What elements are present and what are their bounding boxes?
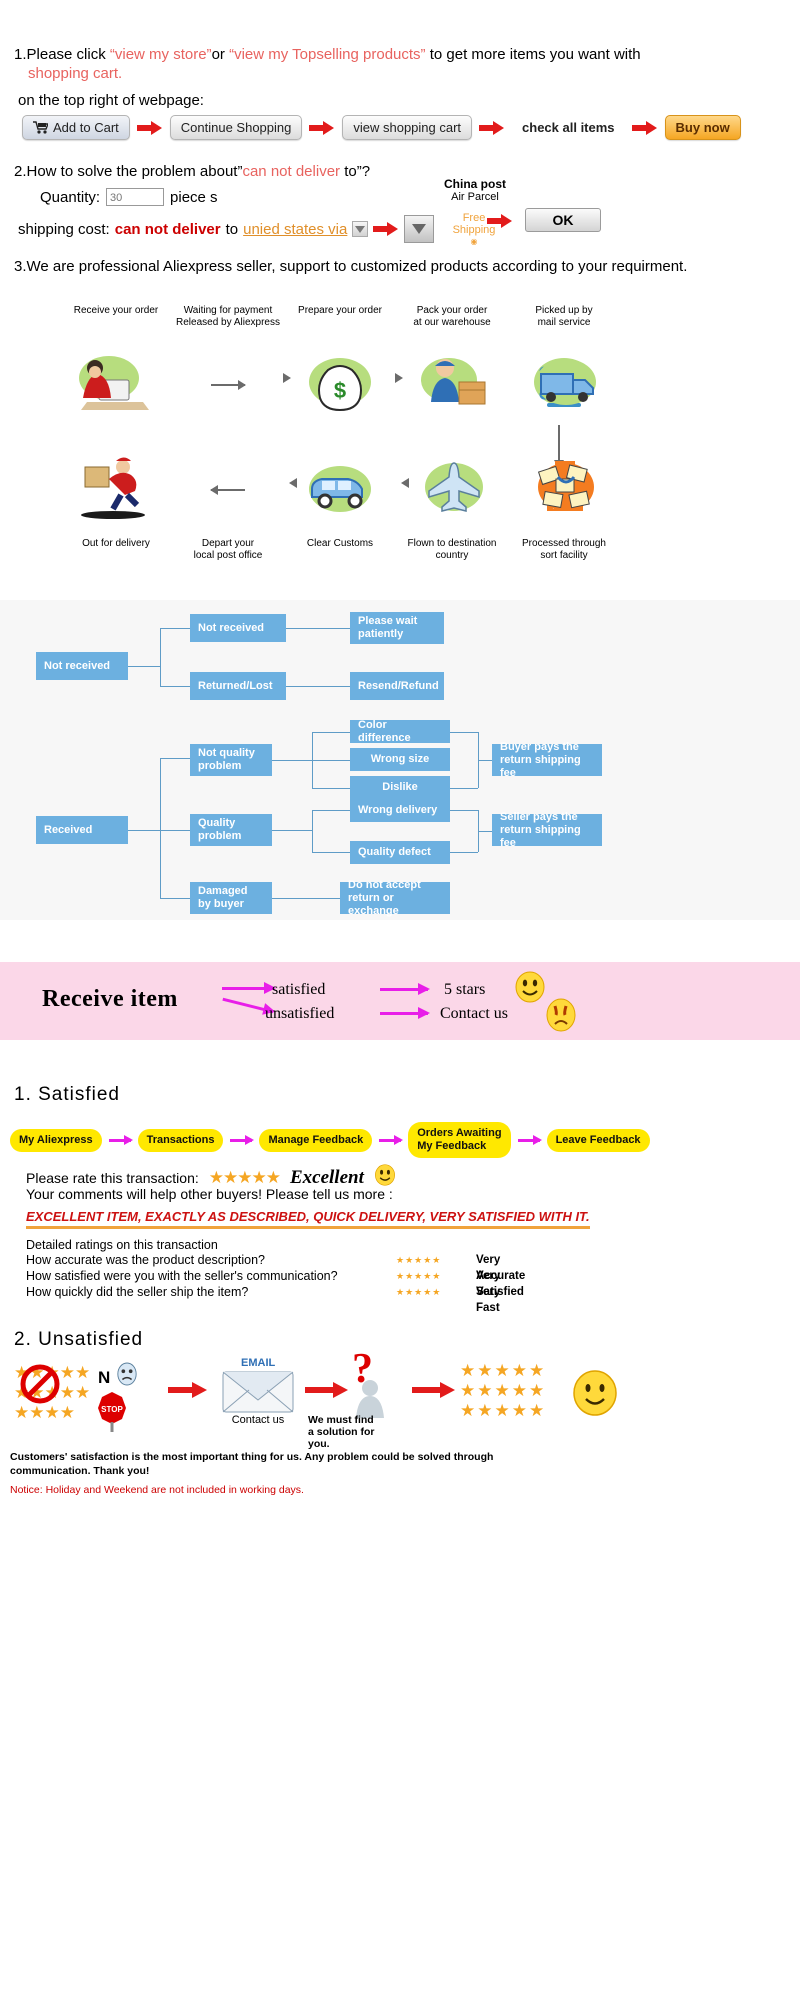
svg-text:$: $: [334, 378, 346, 403]
svg-text:STOP: STOP: [101, 1405, 123, 1414]
flow-label: Receive your order: [60, 305, 172, 329]
arrow-right-icon: [211, 384, 245, 386]
node-label: Please wait patiently: [358, 615, 417, 641]
connector: [272, 898, 340, 899]
feedback-steps-row: My Aliexpress Transactions Manage Feedba…: [10, 1122, 650, 1158]
detailed-rating-row: How accurate was the product description…: [26, 1252, 338, 1268]
flow-label: Depart your local post office: [172, 538, 284, 562]
continue-shopping-button[interactable]: Continue Shopping: [170, 115, 303, 140]
flow-icon-cell: $: [284, 345, 396, 425]
flow-label: Picked up by mail service: [508, 305, 620, 329]
arrow-right-icon: [168, 1382, 208, 1403]
connector: [478, 760, 492, 761]
flow-icon-cell: [60, 450, 172, 530]
flow-icon-cell: [172, 450, 284, 530]
step-manage-feedback[interactable]: Manage Feedback: [259, 1129, 372, 1152]
flow-node-damaged-by-buyer: Damaged by buyer: [190, 882, 272, 914]
connector: [312, 760, 350, 761]
arrow-right-icon: [380, 1012, 428, 1015]
flow-node-dislike: Dislike: [350, 776, 450, 799]
flow-label: Clear Customs: [284, 538, 396, 562]
connector: [478, 831, 492, 832]
rating-stars: ★★★★★: [396, 1252, 441, 1268]
connector: [312, 810, 313, 852]
node-label: Received: [44, 824, 92, 837]
buy-now-button[interactable]: Buy now: [665, 115, 741, 140]
arrow-right-icon: [309, 121, 335, 135]
happy-face-icon: [514, 971, 546, 1008]
footer-note-line1: Customers' satisfaction is the most impo…: [10, 1450, 493, 1464]
sad-face-icon: [545, 998, 577, 1037]
rate-label: Please rate this transaction:: [26, 1170, 199, 1186]
node-label: Buyer pays the return shipping fee: [500, 741, 594, 780]
node-label: Wrong size: [371, 753, 429, 766]
connector: [272, 760, 312, 761]
flow-node-returned-lost: Returned/Lost: [190, 672, 286, 700]
no-rating-graphic: ★★★★★ ★★★★★ ★★★★: [14, 1362, 104, 1445]
flow-icon-cell: [398, 345, 510, 425]
flow-node-resend-refund: Resend/Refund: [350, 672, 444, 700]
step-label: Leave Feedback: [556, 1134, 641, 1147]
flow-icon-cell: [284, 450, 396, 530]
flow-label: Processed through sort facility: [508, 538, 620, 562]
view-shopping-cart-button[interactable]: view shopping cart: [342, 115, 472, 140]
connector: [450, 788, 478, 789]
flow-node-please-wait: Please wait patiently: [350, 612, 444, 644]
comment-text-wrapper: EXCELLENT ITEM, EXACTLY AS DESCRIBED, QU…: [26, 1208, 590, 1229]
unsatisfied-label: unsatisfied: [265, 1005, 334, 1023]
section3-title: 3.We are professional Aliexpress seller,…: [14, 258, 687, 275]
detailed-rating-row: How quickly did the seller ship the item…: [26, 1284, 338, 1300]
connector: [160, 686, 190, 687]
returns-policy-flowchart: Not received Not received Returned/Lost …: [0, 600, 800, 920]
shipping-to-text: to: [226, 221, 239, 238]
comment-prompt: Your comments will help other buyers! Pl…: [26, 1186, 393, 1202]
view-my-store-link[interactable]: “view my store”: [110, 46, 212, 63]
flow-icon-cell: [172, 345, 284, 425]
arrow-right-icon: [487, 214, 513, 228]
airplane-icon: [416, 457, 492, 524]
flow-icon-cell: [398, 450, 510, 530]
connector: [160, 898, 190, 899]
arrow-right-icon: [518, 1139, 540, 1142]
van-icon: [300, 457, 380, 524]
flow-icon-cell: [510, 450, 622, 530]
rating-question: How accurate was the product description…: [26, 1253, 265, 1267]
comment-text: EXCELLENT ITEM, EXACTLY AS DESCRIBED, QU…: [26, 1209, 590, 1229]
contact-us-caption: Contact us: [218, 1414, 298, 1426]
node-label: Quality problem: [198, 817, 241, 843]
cannot-deliver-highlight: can not deliver: [242, 163, 340, 180]
flow-label: Out for delivery: [60, 538, 172, 562]
flow-label: Flown to destination country: [396, 538, 508, 562]
connector: [450, 810, 478, 811]
check-all-items-label: check all items: [522, 120, 615, 135]
cart-button-row: Add to Cart Continue Shopping view shopp…: [22, 115, 741, 140]
step-label: My Aliexpress: [19, 1134, 93, 1147]
check-all-items-text: check all items: [512, 116, 625, 139]
view-shopping-cart-label: view shopping cart: [353, 120, 461, 135]
shipping-cost-row: shipping cost:can not deliver to unied s…: [18, 215, 434, 243]
person-at-computer-icon: [73, 352, 159, 419]
section2-title-a: 2.How to solve the problem about”: [14, 163, 242, 180]
rating-verdict: Very Fast: [476, 1284, 500, 1316]
connector: [450, 852, 478, 853]
shopping-cart-icon: [33, 121, 48, 134]
flow-node-received-root: Received: [36, 816, 128, 844]
detailed-rating-row: How satisfied were you with the seller's…: [26, 1268, 338, 1284]
five-stars-label: 5 stars: [444, 981, 485, 999]
cannot-deliver-text: can not deliver: [115, 221, 221, 238]
connector: [160, 830, 190, 831]
arrow-right-icon: [137, 121, 163, 135]
node-label: Quality defect: [358, 846, 431, 859]
connector: [160, 758, 190, 759]
connector: [286, 686, 350, 687]
arrow-right-icon: [479, 121, 505, 135]
step-label: Transactions: [147, 1134, 215, 1147]
svg-text:★★★★★: ★★★★★: [460, 1361, 546, 1380]
step-transactions[interactable]: Transactions: [138, 1129, 224, 1152]
flow-node-not-received: Not received: [190, 614, 286, 642]
warehouse-worker-icon: [415, 352, 493, 419]
connector: [272, 830, 312, 831]
node-label: Color difference: [358, 719, 442, 745]
node-label: Returned/Lost: [198, 680, 273, 693]
detailed-ratings-list: How accurate was the product description…: [26, 1252, 338, 1300]
connector: [312, 852, 350, 853]
receive-item-title: Receive item: [42, 986, 178, 1013]
satisfied-heading: 1. Satisfied: [14, 1084, 120, 1106]
quantity-input[interactable]: 30: [106, 188, 164, 206]
step-orders-awaiting[interactable]: Orders Awaiting My Feedback: [408, 1122, 510, 1158]
flow-icon-cell: [510, 345, 622, 425]
rating-stars: ★★★★★: [396, 1284, 441, 1300]
carrier-info: China post Air Parcel: [420, 177, 530, 203]
step-leave-feedback[interactable]: Leave Feedback: [547, 1129, 650, 1152]
node-label: Wrong delivery: [358, 804, 437, 817]
footer-notice: Notice: Holiday and Weekend are not incl…: [10, 1484, 304, 1496]
arrow-right-icon: [109, 1139, 131, 1142]
shipping-cost-label: shipping cost:: [18, 221, 110, 238]
info-icon: ◉: [424, 236, 524, 248]
view-topselling-link[interactable]: “view my Topselling products”: [229, 46, 425, 63]
chevron-down-icon: [355, 226, 365, 233]
add-to-cart-label: Add to Cart: [53, 120, 119, 135]
shipping-flow-labels-bottom: Out for delivery Depart your local post …: [60, 538, 620, 562]
shopping-cart-text: shopping cart.: [28, 65, 122, 82]
svg-text:★★★★: ★★★★: [14, 1403, 75, 1422]
node-label: Not quality problem: [198, 747, 255, 773]
arrow-right-icon: [373, 222, 399, 236]
unsatisfied-heading: 2. Unsatisfied: [14, 1329, 143, 1351]
flow-node-wrong-delivery: Wrong delivery: [350, 799, 450, 822]
flow-node-do-not-accept: Do not accept return or exchange: [340, 882, 450, 914]
mail-sorting-icon: [528, 457, 604, 524]
rating-stars[interactable]: ★★★★★: [209, 1168, 280, 1188]
svg-text:★★★★★: ★★★★★: [460, 1401, 546, 1420]
connector: [312, 810, 350, 811]
shipping-flow-labels-top: Receive your order Waiting for payment R…: [60, 305, 620, 329]
node-label: Not received: [44, 660, 110, 673]
connector: [312, 732, 350, 733]
arrow-right-icon: [632, 121, 658, 135]
instruction-mid: or: [212, 46, 230, 63]
running-courier-icon: [73, 455, 159, 526]
flow-label: Prepare your order: [284, 305, 396, 329]
thinking-person-icon: ?: [330, 1352, 406, 1423]
flow-node-not-received-root: Not received: [36, 652, 128, 680]
ok-label: OK: [553, 212, 574, 228]
star-grid: ★★★★★ ★★★★★ ★★★★★: [460, 1360, 570, 1427]
no-label: N: [98, 1368, 110, 1388]
svg-text:★★★★★: ★★★★★: [460, 1381, 546, 1400]
connector: [128, 666, 160, 667]
step-my-aliexpress[interactable]: My Aliexpress: [10, 1129, 102, 1152]
flow-label: Waiting for payment Released by Aliexpre…: [172, 305, 284, 329]
quantity-unit: piece s: [170, 189, 218, 206]
arrow-right-icon: [412, 1382, 456, 1403]
arrow-right-icon: [230, 1139, 252, 1142]
flow-node-quality-defect: Quality defect: [350, 841, 450, 864]
node-label: Not received: [198, 622, 264, 635]
stop-sign-icon: STOP: [92, 1390, 132, 1437]
section2-title-b: to”?: [340, 163, 370, 180]
instruction-line-1: 1.Please click “view my store”or “view m…: [14, 44, 794, 65]
instruction-suffix: to get more items you want with: [426, 46, 641, 63]
node-label: Do not accept return or exchange: [348, 879, 442, 918]
add-to-cart-button[interactable]: Add to Cart: [22, 115, 130, 140]
receive-item-banner: Receive item satisfied unsatisfied 5 sta…: [0, 962, 800, 1040]
connector: [450, 732, 478, 733]
contact-us-label: Contact us: [440, 1005, 508, 1023]
connector: [128, 830, 160, 831]
connector: [160, 628, 161, 686]
continue-shopping-label: Continue Shopping: [181, 120, 292, 135]
quantity-label: Quantity:: [40, 189, 100, 206]
solution-caption: We must find a solution for you.: [308, 1414, 418, 1450]
flow-node-color-difference: Color difference: [350, 720, 450, 743]
arrow-right-icon: [379, 1139, 401, 1142]
connector: [160, 628, 190, 629]
step-label: Orders Awaiting My Feedback: [417, 1127, 501, 1153]
carrier-service: Air Parcel: [420, 191, 530, 203]
flow-icon-cell: [60, 345, 172, 425]
flow-label: Pack your order at our warehouse: [396, 305, 508, 329]
flow-node-seller-pays: Seller pays the return shipping fee: [492, 814, 602, 846]
rating-question: How satisfied were you with the seller's…: [26, 1269, 338, 1283]
node-label: Seller pays the return shipping fee: [500, 811, 594, 850]
flow-node-wrong-size: Wrong size: [350, 748, 450, 771]
section2-title: 2.How to solve the problem about”can not…: [14, 163, 370, 180]
arrow-right-icon: [222, 987, 274, 990]
connector: [160, 758, 161, 898]
country-select-link[interactable]: unied states via: [243, 221, 347, 238]
detailed-ratings-heading: Detailed ratings on this transaction: [26, 1238, 218, 1252]
node-label: Damaged by buyer: [198, 885, 248, 911]
delivery-truck-icon: [527, 352, 605, 419]
svg-text:EMAIL: EMAIL: [241, 1357, 276, 1369]
rating-question: How quickly did the seller ship the item…: [26, 1285, 248, 1299]
flow-node-not-quality-problem: Not quality problem: [190, 744, 272, 776]
money-bag-icon: $: [300, 352, 380, 419]
satisfied-label: satisfied: [272, 981, 325, 999]
arrow-left-icon: [211, 489, 245, 491]
node-label: Dislike: [382, 781, 417, 794]
worried-face-icon: [116, 1362, 138, 1391]
node-label: Resend/Refund: [358, 680, 439, 693]
neutral-face-icon: [572, 1370, 618, 1421]
connector: [312, 788, 350, 789]
flow-node-buyer-pays: Buyer pays the return shipping fee: [492, 744, 602, 776]
buy-now-label: Buy now: [676, 120, 730, 135]
step-label: Manage Feedback: [268, 1134, 363, 1147]
flow-node-quality-problem: Quality problem: [190, 814, 272, 846]
arrow-right-icon: [380, 988, 428, 991]
ok-button[interactable]: OK: [525, 208, 601, 232]
quantity-row: Quantity: 30 piece s: [40, 188, 218, 206]
connector: [286, 628, 350, 629]
rating-stars: ★★★★★: [396, 1268, 441, 1284]
footer-note-line2: communication. Thank you!: [10, 1464, 149, 1478]
instruction-prefix: 1.Please click: [14, 46, 110, 63]
top-right-note: on the top right of webpage:: [18, 92, 204, 109]
page-root: 1.Please click “view my store”or “view m…: [0, 0, 800, 2000]
country-dropdown-small[interactable]: [352, 221, 368, 237]
carrier-name: China post: [420, 177, 530, 191]
email-envelope-icon: EMAIL: [215, 1352, 301, 1421]
